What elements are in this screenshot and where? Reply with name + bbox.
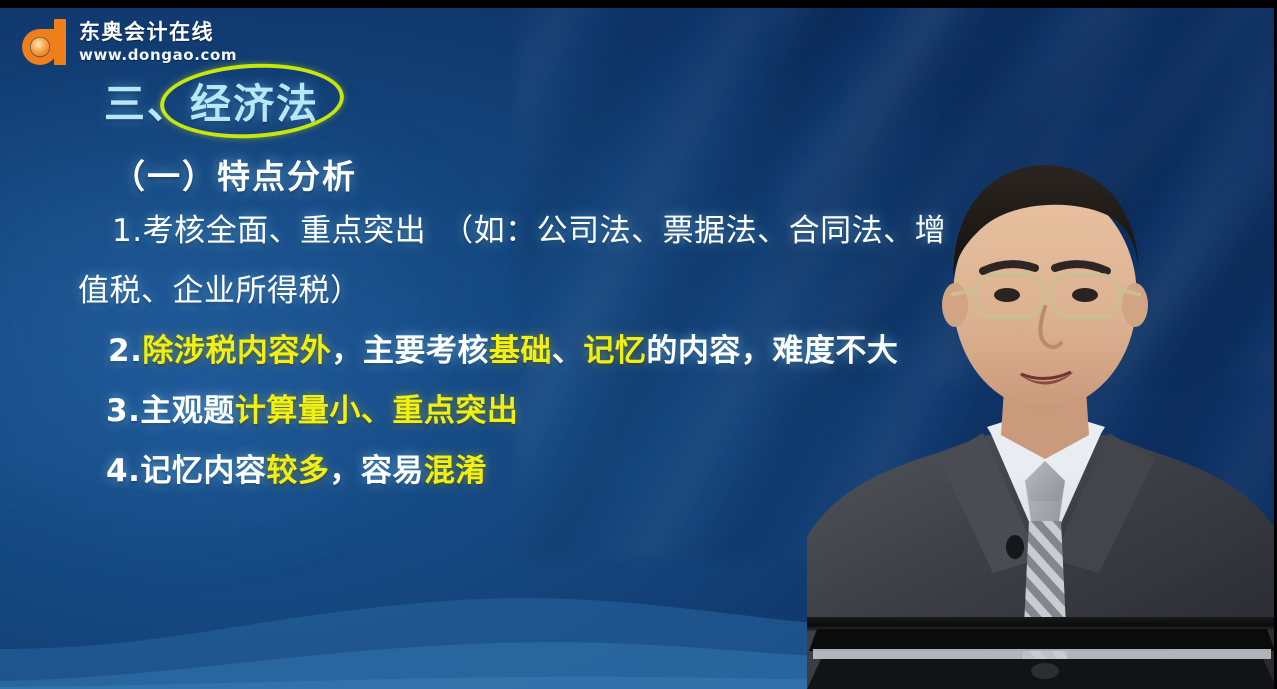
text-segment: 、 <box>552 333 584 369</box>
brand-name: 东奥会计在线 <box>79 22 237 43</box>
bullet-line-1-wrap: 值税、企业所得税） <box>78 265 362 310</box>
letterbox-top <box>0 0 1277 8</box>
text-segment: 除涉税内容外 <box>142 333 331 369</box>
text-segment: 值税、企业所得税） <box>78 273 362 309</box>
bullet-line-2: 2.除涉税内容外，主要考核基础、记忆的内容，难度不大 <box>108 325 898 370</box>
text-segment: 记忆 <box>583 333 646 369</box>
bullet-line-4: 4.记忆内容较多，容易混淆 <box>106 445 487 490</box>
section-subtitle: （一）特点分析 <box>112 150 357 198</box>
dongao-logo-icon <box>14 16 70 68</box>
bullet-line-3: 3.主观题计算量小、重点突出 <box>106 385 518 430</box>
text-segment: 较多 <box>266 453 329 489</box>
text-segment: ，容易 <box>329 453 424 489</box>
text-segment: 基础 <box>489 333 552 369</box>
text-segment: 计算量小、重点突出 <box>235 393 519 429</box>
brand-logo[interactable]: 东奥会计在线 www.dongao.com <box>14 16 237 68</box>
text-segment: 2. <box>108 333 142 369</box>
presenter-figure <box>807 129 1277 689</box>
video-frame: 东奥会计在线 www.dongao.com 三、经济法 （一）特点分析 1.考核… <box>0 0 1277 689</box>
text-segment: 混淆 <box>424 453 487 489</box>
text-segment: 3.主观题 <box>106 393 235 429</box>
text-segment: 4.记忆内容 <box>106 453 266 489</box>
brand-url: www.dongao.com <box>79 48 237 63</box>
text-segment: ，主要考核 <box>331 333 489 369</box>
